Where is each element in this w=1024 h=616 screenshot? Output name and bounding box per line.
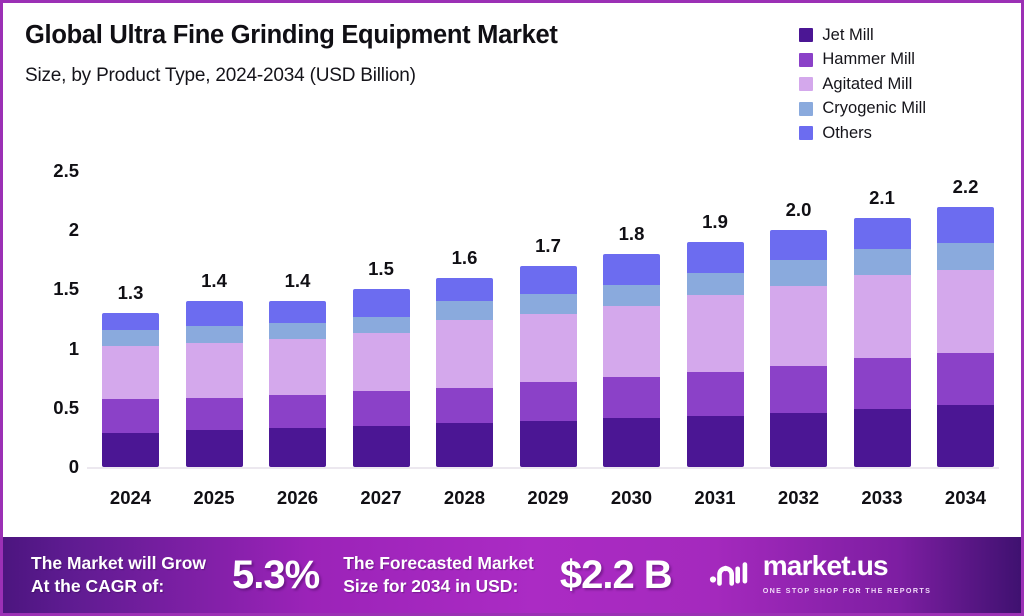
bar-group[interactable]: 1.52027 bbox=[353, 3, 410, 519]
brand-tagline: ONE STOP SHOP FOR THE REPORTS bbox=[763, 586, 932, 595]
bar-stack[interactable] bbox=[770, 230, 827, 467]
bar-segment-cryogenic-mill[interactable] bbox=[937, 243, 994, 270]
y-axis-tick-label: 1.5 bbox=[53, 278, 79, 300]
bar-segment-others[interactable] bbox=[269, 301, 326, 322]
bar-segment-others[interactable] bbox=[436, 278, 493, 302]
footer-cagr-caption-line1: The Market will Grow bbox=[31, 552, 206, 575]
bar-segment-jet-mill[interactable] bbox=[102, 433, 159, 467]
x-axis-tick-label: 2028 bbox=[419, 487, 510, 509]
bar-segment-others[interactable] bbox=[102, 313, 159, 330]
bar-group[interactable]: 1.82030 bbox=[603, 3, 660, 519]
x-axis-tick-label: 2029 bbox=[502, 487, 593, 509]
y-axis-tick-label: 0 bbox=[69, 456, 79, 478]
bar-segment-hammer-mill[interactable] bbox=[269, 395, 326, 428]
bar-stack[interactable] bbox=[186, 301, 243, 467]
brand-wordmark: market.us bbox=[763, 550, 888, 581]
bar-value-label: 1.4 bbox=[263, 270, 331, 292]
x-axis-tick-label: 2027 bbox=[335, 487, 426, 509]
bar-segment-agitated-mill[interactable] bbox=[186, 343, 243, 399]
bar-segment-jet-mill[interactable] bbox=[353, 426, 410, 467]
bar-segment-cryogenic-mill[interactable] bbox=[102, 330, 159, 347]
footer-cagr-caption-line2: At the CAGR of: bbox=[31, 575, 206, 598]
bar-segment-others[interactable] bbox=[770, 230, 827, 260]
bar-value-label: 1.6 bbox=[430, 247, 498, 269]
bar-group[interactable]: 1.32024 bbox=[102, 3, 159, 519]
x-axis-tick-label: 2026 bbox=[252, 487, 343, 509]
bar-segment-agitated-mill[interactable] bbox=[102, 346, 159, 399]
bar-segment-jet-mill[interactable] bbox=[269, 428, 326, 467]
y-axis-tick-label: 2.5 bbox=[53, 160, 79, 182]
bar-segment-cryogenic-mill[interactable] bbox=[687, 273, 744, 295]
bar-segment-others[interactable] bbox=[186, 301, 243, 326]
bar-segment-jet-mill[interactable] bbox=[770, 413, 827, 467]
bar-group[interactable]: 2.12033 bbox=[854, 3, 911, 519]
bar-segment-others[interactable] bbox=[520, 266, 577, 294]
market-us-logo-icon bbox=[708, 557, 754, 594]
bar-segment-jet-mill[interactable] bbox=[436, 423, 493, 467]
bar-group[interactable]: 1.62028 bbox=[436, 3, 493, 519]
bar-segment-jet-mill[interactable] bbox=[520, 421, 577, 467]
bar-segment-jet-mill[interactable] bbox=[687, 416, 744, 467]
x-axis-tick-label: 2032 bbox=[753, 487, 844, 509]
bar-group[interactable]: 2.22034 bbox=[937, 3, 994, 519]
bar-value-label: 2.1 bbox=[848, 187, 916, 209]
bar-segment-agitated-mill[interactable] bbox=[687, 295, 744, 372]
bar-group[interactable]: 1.42025 bbox=[186, 3, 243, 519]
bar-value-label: 1.4 bbox=[180, 270, 248, 292]
bar-value-label: 1.8 bbox=[597, 223, 665, 245]
bar-value-label: 2.0 bbox=[764, 199, 832, 221]
chart-plot-area: 00.511.522.5 1.320241.420251.420261.5202… bbox=[3, 3, 1024, 519]
bar-segment-others[interactable] bbox=[603, 254, 660, 285]
bar-segment-agitated-mill[interactable] bbox=[603, 306, 660, 377]
x-axis-tick-label: 2033 bbox=[836, 487, 927, 509]
bar-segment-cryogenic-mill[interactable] bbox=[770, 260, 827, 286]
bar-segment-hammer-mill[interactable] bbox=[102, 399, 159, 432]
bar-segment-hammer-mill[interactable] bbox=[520, 382, 577, 421]
bar-segment-others[interactable] bbox=[353, 289, 410, 316]
y-axis-tick-label: 0.5 bbox=[53, 397, 79, 419]
x-axis-tick-label: 2024 bbox=[85, 487, 176, 509]
bar-segment-agitated-mill[interactable] bbox=[436, 320, 493, 387]
bar-value-label: 1.3 bbox=[96, 282, 164, 304]
infographic-chart-card: Global Ultra Fine Grinding Equipment Mar… bbox=[0, 0, 1024, 616]
bar-segment-agitated-mill[interactable] bbox=[854, 275, 911, 358]
bar-value-label: 1.7 bbox=[514, 235, 582, 257]
bar-stack[interactable] bbox=[937, 207, 994, 467]
footer-banner: The Market will Grow At the CAGR of: 5.3… bbox=[3, 537, 1021, 613]
bar-segment-agitated-mill[interactable] bbox=[520, 314, 577, 381]
bar-value-label: 1.5 bbox=[347, 258, 415, 280]
x-axis-tick-label: 2034 bbox=[920, 487, 1011, 509]
footer-forecast-caption-line1: The Forecasted Market bbox=[343, 552, 534, 575]
bar-stack[interactable] bbox=[854, 218, 911, 467]
bar-stack[interactable] bbox=[687, 242, 744, 467]
bar-segment-agitated-mill[interactable] bbox=[353, 333, 410, 391]
bar-group[interactable]: 1.42026 bbox=[269, 3, 326, 519]
y-axis-tick-label: 1 bbox=[69, 338, 79, 360]
bar-stack[interactable] bbox=[436, 278, 493, 467]
footer-cagr-caption: The Market will Grow At the CAGR of: bbox=[31, 552, 206, 598]
bar-segment-hammer-mill[interactable] bbox=[436, 388, 493, 424]
bar-segment-cryogenic-mill[interactable] bbox=[520, 294, 577, 314]
bar-value-label: 1.9 bbox=[681, 211, 749, 233]
bar-segment-cryogenic-mill[interactable] bbox=[353, 317, 410, 334]
bar-segment-cryogenic-mill[interactable] bbox=[603, 285, 660, 306]
brand-logo-group[interactable]: market.us ONE STOP SHOP FOR THE REPORTS bbox=[708, 552, 1021, 598]
footer-cagr-value: 5.3% bbox=[232, 553, 319, 598]
x-axis-tick-label: 2025 bbox=[168, 487, 259, 509]
bar-segment-hammer-mill[interactable] bbox=[603, 377, 660, 418]
bar-group[interactable]: 1.72029 bbox=[520, 3, 577, 519]
bar-segment-agitated-mill[interactable] bbox=[770, 286, 827, 367]
bar-segment-hammer-mill[interactable] bbox=[353, 391, 410, 425]
bar-segment-others[interactable] bbox=[687, 242, 744, 273]
footer-forecast-caption-line2: Size for 2034 in USD: bbox=[343, 575, 534, 598]
bar-segment-cryogenic-mill[interactable] bbox=[854, 249, 911, 275]
bar-segment-jet-mill[interactable] bbox=[937, 405, 994, 467]
bar-segment-others[interactable] bbox=[937, 207, 994, 244]
bar-stack[interactable] bbox=[520, 266, 577, 467]
bar-segment-others[interactable] bbox=[854, 218, 911, 249]
bar-group[interactable]: 1.92031 bbox=[687, 3, 744, 519]
bar-segment-cryogenic-mill[interactable] bbox=[269, 323, 326, 340]
bar-segment-hammer-mill[interactable] bbox=[687, 372, 744, 416]
bar-segment-jet-mill[interactable] bbox=[854, 409, 911, 467]
bar-segment-agitated-mill[interactable] bbox=[937, 270, 994, 353]
footer-forecast-caption: The Forecasted Market Size for 2034 in U… bbox=[343, 552, 534, 598]
bar-segment-cryogenic-mill[interactable] bbox=[436, 301, 493, 320]
y-axis-tick-label: 2 bbox=[69, 219, 79, 241]
bar-segment-hammer-mill[interactable] bbox=[770, 366, 827, 412]
x-axis-tick-label: 2031 bbox=[669, 487, 760, 509]
bar-segment-cryogenic-mill[interactable] bbox=[186, 326, 243, 343]
bar-segment-jet-mill[interactable] bbox=[603, 418, 660, 467]
bar-segment-hammer-mill[interactable] bbox=[854, 358, 911, 409]
x-axis-tick-label: 2030 bbox=[586, 487, 677, 509]
brand-text-block: market.us ONE STOP SHOP FOR THE REPORTS bbox=[763, 552, 1021, 598]
bar-stack[interactable] bbox=[603, 254, 660, 467]
bar-segment-hammer-mill[interactable] bbox=[186, 398, 243, 430]
bar-value-label: 2.2 bbox=[931, 176, 999, 198]
bar-stack[interactable] bbox=[102, 313, 159, 467]
bar-stack[interactable] bbox=[269, 301, 326, 467]
bar-segment-agitated-mill[interactable] bbox=[269, 339, 326, 395]
footer-forecast-value: $2.2 B bbox=[560, 553, 672, 598]
bar-segment-hammer-mill[interactable] bbox=[937, 353, 994, 405]
bar-segment-jet-mill[interactable] bbox=[186, 430, 243, 467]
bar-group[interactable]: 2.02032 bbox=[770, 3, 827, 519]
y-axis: 00.511.522.5 bbox=[19, 3, 79, 519]
bars-container: 1.320241.420251.420261.520271.620281.720… bbox=[87, 3, 999, 519]
bar-stack[interactable] bbox=[353, 289, 410, 467]
